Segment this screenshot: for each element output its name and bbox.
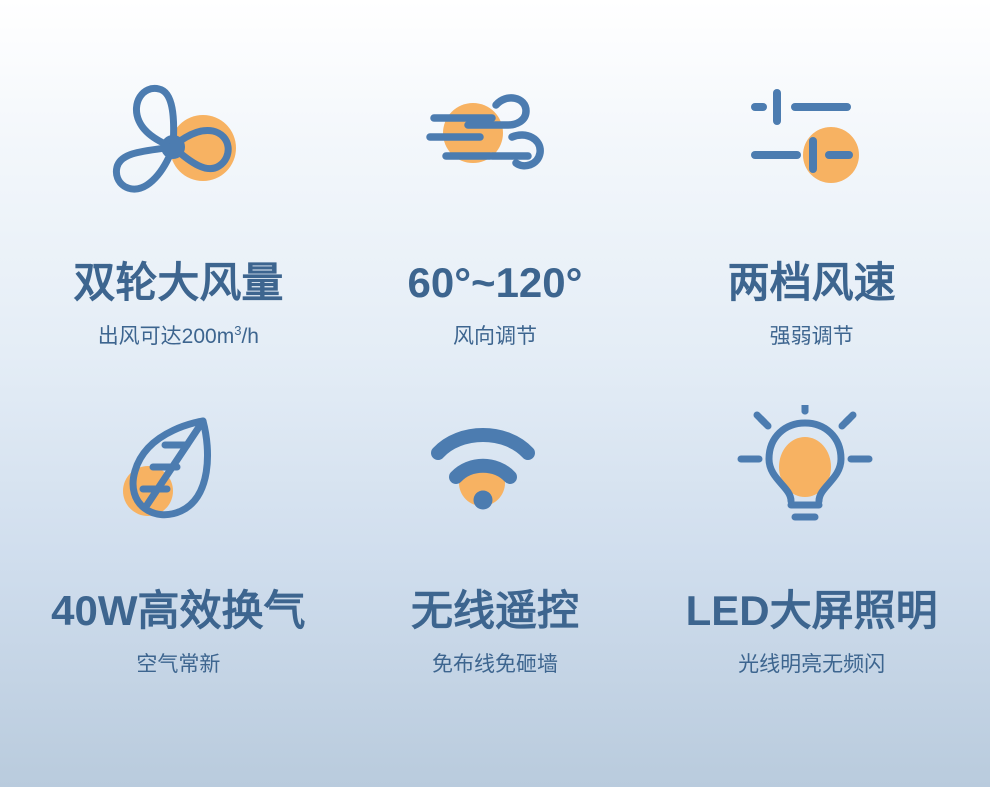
feature-item-fan: 双轮大风量 出风可达200m3/h bbox=[20, 70, 337, 400]
feature-subtitle: 出风可达200m3/h bbox=[98, 326, 259, 347]
feature-item-speed: 两档风速 强弱调节 bbox=[653, 70, 970, 400]
feature-title: 双轮大风量 bbox=[73, 262, 283, 304]
lightbulb-icon bbox=[737, 400, 887, 550]
feature-subtitle: 免布线免砸墙 bbox=[432, 654, 558, 675]
feature-item-remote: 无线遥控 免布线免砸墙 bbox=[337, 400, 654, 730]
feature-subtitle: 强弱调节 bbox=[770, 326, 854, 347]
wifi-icon bbox=[420, 400, 570, 550]
fan-icon bbox=[103, 70, 253, 220]
leaf-icon bbox=[103, 400, 253, 550]
feature-subtitle-prefix: 出风可达200m bbox=[98, 325, 235, 348]
feature-grid: 双轮大风量 出风可达200m3/h 60°~120° 风向调节 bbox=[0, 0, 990, 730]
feature-title: 40W高效换气 bbox=[51, 590, 305, 632]
feature-subtitle-suffix: /h bbox=[241, 325, 259, 348]
feature-item-wind-angle: 60°~120° 风向调节 bbox=[337, 70, 654, 400]
speed-slider-icon bbox=[737, 70, 887, 220]
feature-title: 60°~120° bbox=[408, 262, 583, 304]
feature-title: 两档风速 bbox=[728, 262, 896, 304]
feature-subtitle: 空气常新 bbox=[136, 654, 220, 675]
wind-swirl-icon bbox=[420, 70, 570, 220]
feature-item-lighting: LED大屏照明 光线明亮无频闪 bbox=[653, 400, 970, 730]
feature-item-ventilation: 40W高效换气 空气常新 bbox=[20, 400, 337, 730]
feature-subtitle: 光线明亮无频闪 bbox=[738, 654, 885, 675]
feature-title: LED大屏照明 bbox=[686, 590, 938, 632]
feature-title: 无线遥控 bbox=[411, 590, 579, 632]
feature-subtitle: 风向调节 bbox=[453, 326, 537, 347]
